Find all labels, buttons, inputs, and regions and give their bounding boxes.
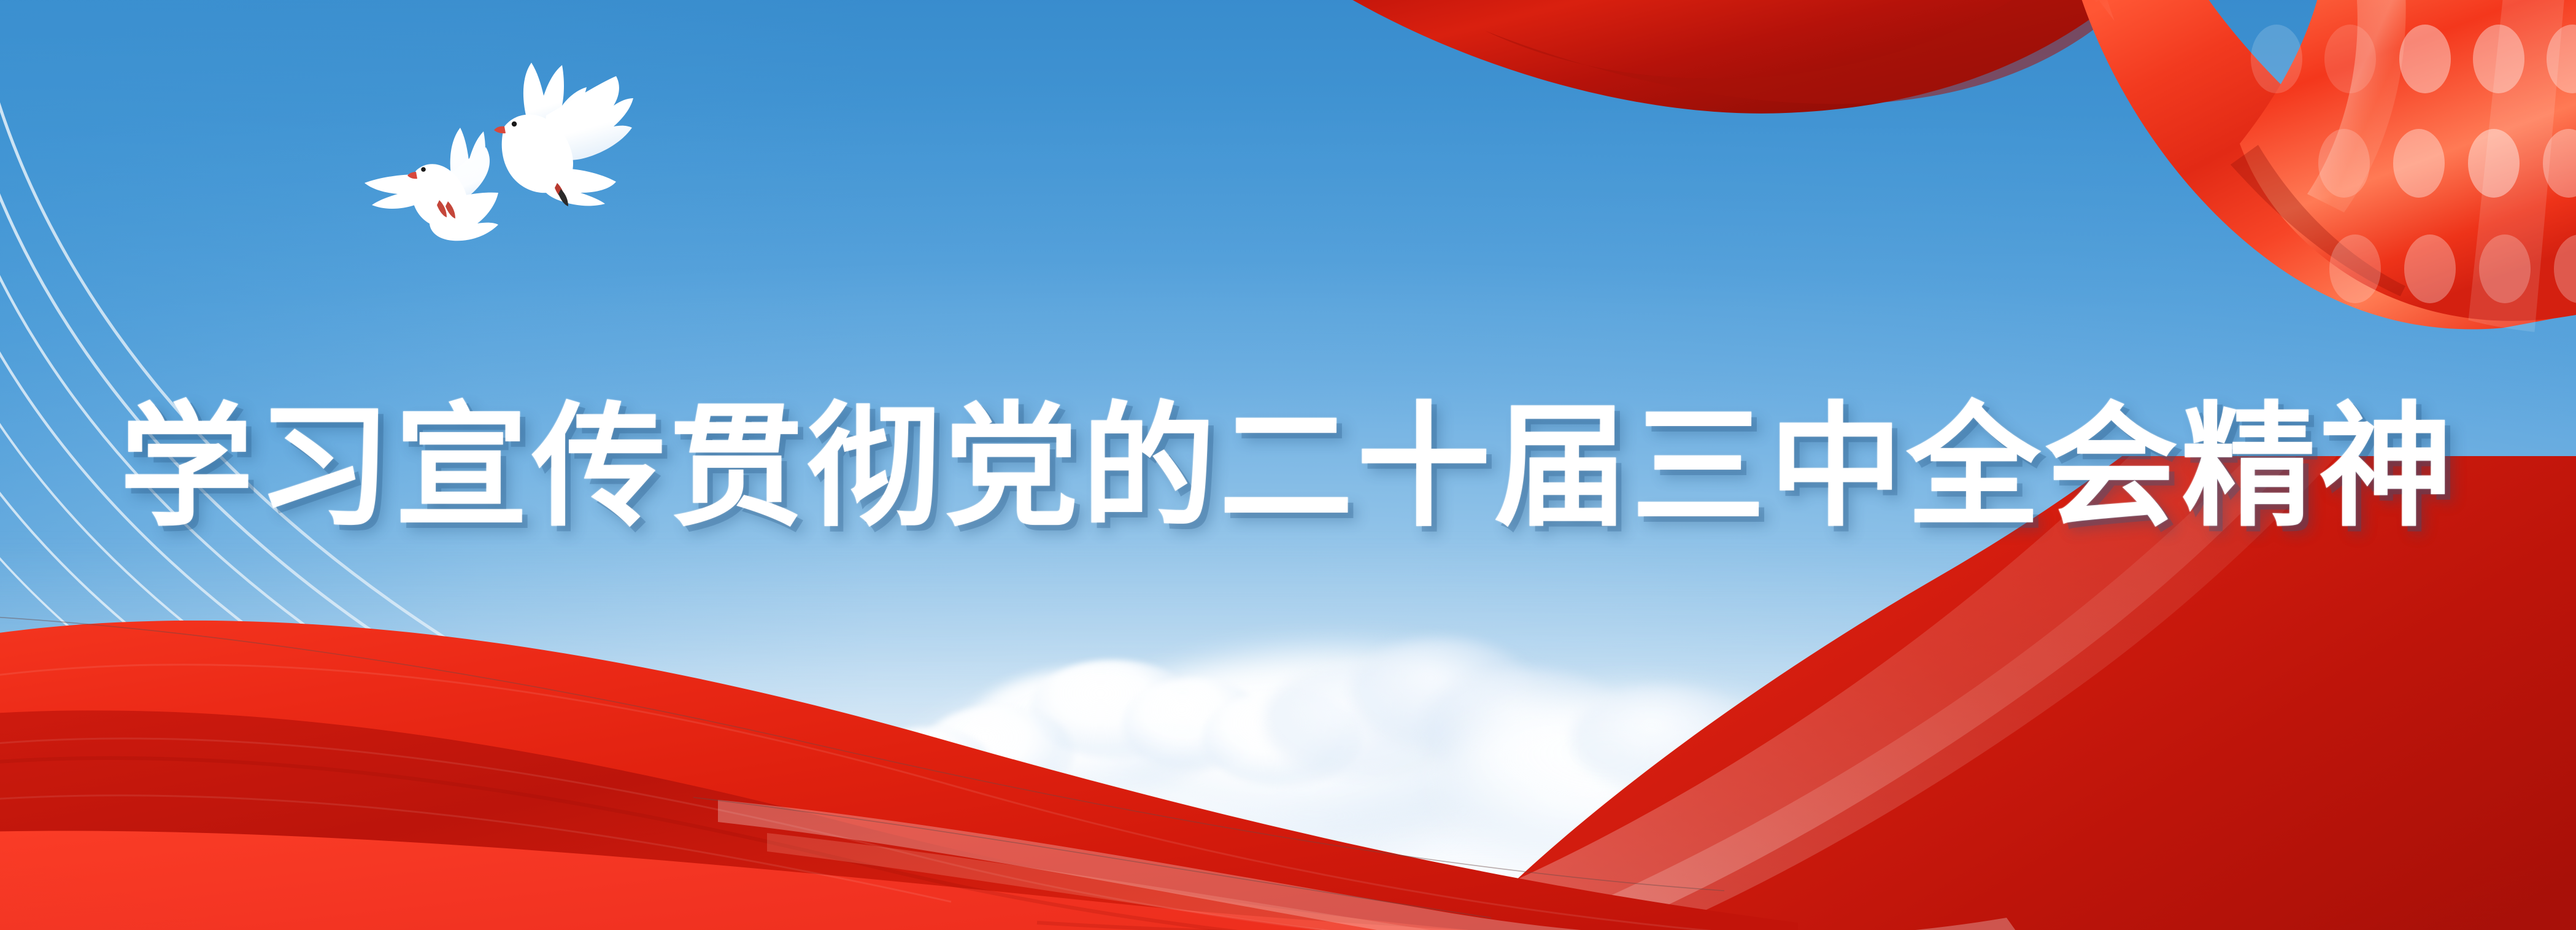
red-ribbon-group bbox=[1301, 0, 2576, 335]
dove-left-eye bbox=[421, 167, 426, 172]
dove-left bbox=[364, 128, 498, 241]
ribbon-dot bbox=[2318, 129, 2370, 198]
doves-group bbox=[344, 37, 663, 270]
ribbon-dot bbox=[2324, 25, 2376, 93]
ribbon-dot bbox=[2251, 25, 2302, 93]
dove-right bbox=[494, 63, 633, 206]
dove-right-eye bbox=[512, 122, 517, 126]
banner-root: 学习宣传贯彻党的二十届三中全会精神 bbox=[0, 0, 2576, 930]
ribbon-dot bbox=[2404, 234, 2456, 303]
ribbon-dot bbox=[2393, 129, 2445, 198]
red-wave-group bbox=[0, 456, 2576, 930]
ribbon-dot bbox=[2329, 234, 2381, 303]
ribbon-dot bbox=[2479, 234, 2531, 303]
dove-right-beak bbox=[494, 126, 506, 134]
dove-right-tail bbox=[539, 168, 616, 206]
ribbon-dot bbox=[2468, 129, 2520, 198]
ribbon-dot bbox=[2399, 25, 2451, 93]
ribbon-dot bbox=[2473, 25, 2524, 93]
